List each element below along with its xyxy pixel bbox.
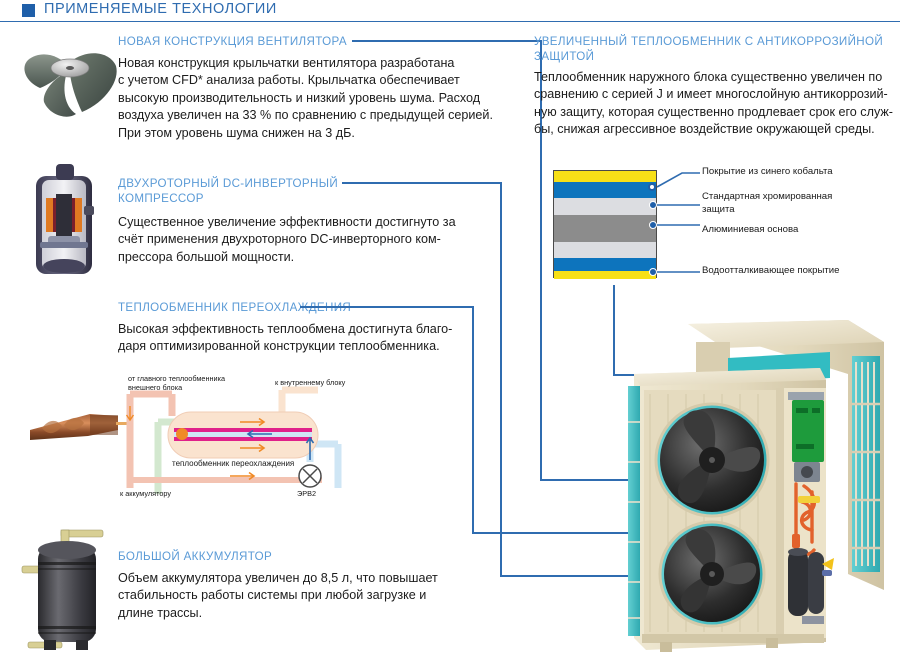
header-marker-icon	[22, 4, 35, 17]
connector-subcooling-horizontal	[300, 306, 474, 308]
schematic-label-valve: ЭРВ2	[297, 489, 316, 498]
section-body-heat-exchanger: Теплообменник наружного блока существенн…	[534, 69, 900, 139]
coating-callout-0: Покрытие из синего кобальта	[702, 166, 833, 179]
hotspot-coating-chrome[interactable]	[649, 201, 657, 209]
page-title: ПРИМЕНЯЕМЫЕ ТЕХНОЛОГИИ	[44, 1, 277, 17]
hotspot-coating-cobalt[interactable]	[648, 183, 656, 191]
page-header: ПРИМЕНЯЕМЫЕ ТЕХНОЛОГИИ	[0, 0, 900, 22]
connector-coating-vertical	[613, 285, 615, 375]
section-body-fan: Новая конструкция крыльчатки вентилятора…	[118, 55, 518, 142]
subcooling-schematic: от главного теплообменника внешнего блок…	[112, 376, 397, 504]
section-title-heat-exchanger: УВЕЛИЧЕННЫЙ ТЕПЛООБМЕННИК С АНТИКОРРОЗИЙ…	[534, 34, 900, 64]
section-body-compressor: Существенное увеличение эффективности до…	[118, 214, 518, 266]
schematic-label-from-main: от главного теплообменника внешнего блок…	[128, 374, 225, 392]
connector-fan-horizontal	[352, 40, 542, 42]
section-title-accumulator: БОЛЬШОЙ АККУМУЛЯТОР	[118, 549, 438, 564]
outdoor-unit-illustration	[616, 312, 900, 662]
schematic-label-to-accumulator: к аккумулятору	[120, 489, 171, 498]
hotspot-coating-hydrophobic[interactable]	[649, 268, 657, 276]
section-body-subcooling: Высокая эффективность теплообмена достиг…	[118, 321, 518, 356]
technology-page: ПРИМЕНЯЕМЫЕ ТЕХНОЛОГИИ НОВАЯ КОНСТРУКЦИЯ…	[0, 0, 900, 669]
coating-callout-2: Алюминиевая основа	[702, 224, 798, 237]
schematic-label-center: теплообменник переохлаждения	[172, 459, 294, 468]
accumulator-icon	[16, 522, 116, 650]
schematic-label-to-indoor: к внутреннему блоку	[275, 378, 345, 387]
connector-subcooling-vertical	[472, 306, 474, 533]
fan-blade-icon	[18, 32, 123, 127]
connector-compressor-horizontal	[342, 182, 502, 184]
coating-callout-1: Стандартная хромированная защита	[702, 191, 832, 216]
hotspot-coating-aluminium[interactable]	[649, 221, 657, 229]
connector-compressor-vertical	[500, 182, 502, 576]
coating-callout-3: Водоотталкивающее покрытие	[702, 265, 839, 278]
section-body-accumulator: Объем аккумулятора увеличен до 8,5 л, чт…	[118, 570, 518, 622]
section-title-compressor: ДВУХРОТОРНЫЙ DC-ИНВЕРТОРНЫЙ КОМПРЕССОР	[118, 176, 418, 206]
compressor-icon	[24, 162, 104, 282]
schematic-svg	[112, 376, 397, 504]
